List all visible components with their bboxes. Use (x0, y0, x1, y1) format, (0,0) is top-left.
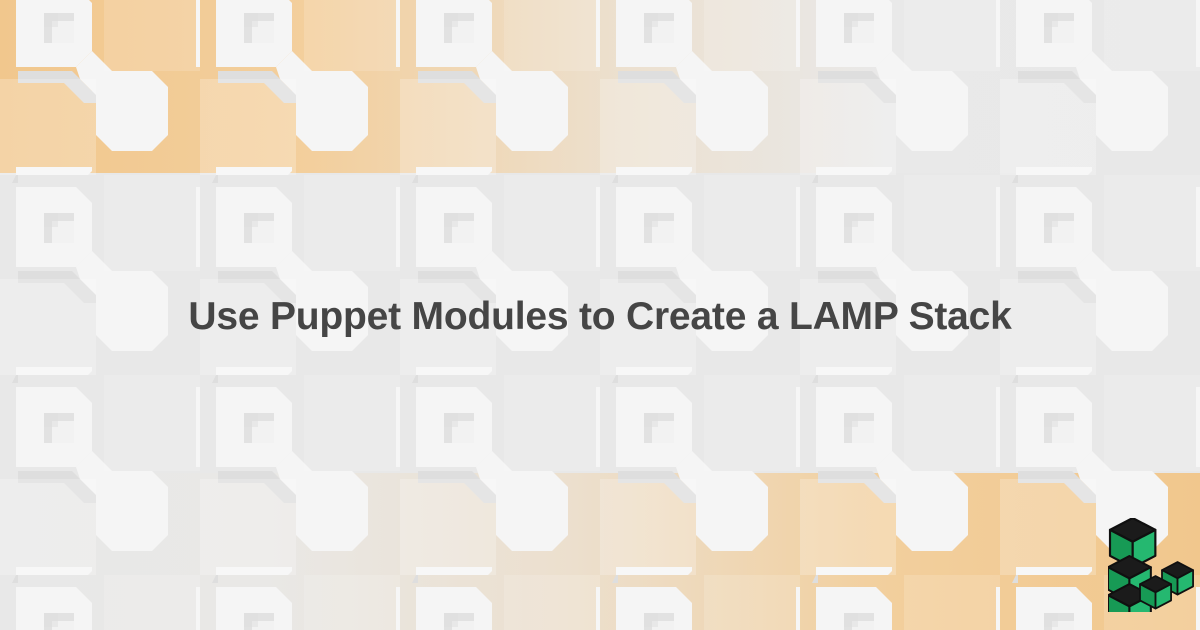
puppet-logo (1108, 518, 1194, 612)
page-title-text: Use Puppet Modules to Create a LAMP Stac… (188, 295, 1011, 339)
og-card: Use Puppet Modules to Create a LAMP Stac… (0, 0, 1200, 630)
logo-cube-right-lower (1140, 576, 1171, 609)
page-title: Use Puppet Modules to Create a LAMP Stac… (0, 287, 1200, 347)
